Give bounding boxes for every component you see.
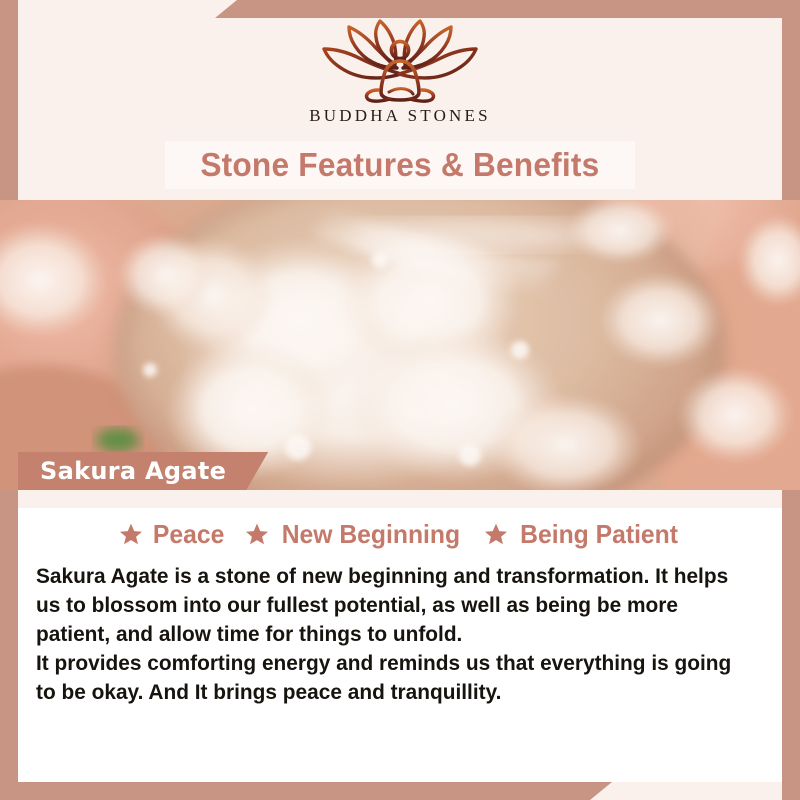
benefit-item-peace: Peace [118,519,226,550]
brand-name: BUDDHA STONES [309,106,491,126]
lotus-meditation-icon [315,18,485,104]
infographic-page: BUDDHA STONES Stone Features & Benefits [0,0,800,800]
benefit-label: New Beginning [282,519,460,550]
benefit-label: Peace [153,519,224,550]
description-paragraph-2: It provides comforting energy and remind… [36,649,738,707]
benefits-row: Peace New Beginning Being Patient [18,512,782,556]
description-paragraph-1: Sakura Agate is a stone of new beginning… [36,562,738,649]
benefit-item-new-beginning: New Beginning [244,519,465,550]
sakura-agate-stone-photo [0,200,800,490]
stone-name-label: Sakura Agate [40,457,226,485]
star-icon [244,522,270,547]
benefit-label: Being Patient [520,519,678,550]
benefit-item-being-patient: Being Patient [483,519,682,550]
frame-border-bottom [0,782,612,800]
description-text: Sakura Agate is a stone of new beginning… [36,562,738,707]
photo-bottom-strip [18,490,782,508]
star-icon [483,522,509,547]
page-title: Stone Features & Benefits [200,146,599,184]
frame-border-top [215,0,800,18]
product-photo [0,200,800,490]
title-banner: Stone Features & Benefits [165,141,635,189]
star-icon [118,522,144,547]
stone-name-tag: Sakura Agate [18,452,268,490]
brand-logo: BUDDHA STONES [0,18,800,138]
